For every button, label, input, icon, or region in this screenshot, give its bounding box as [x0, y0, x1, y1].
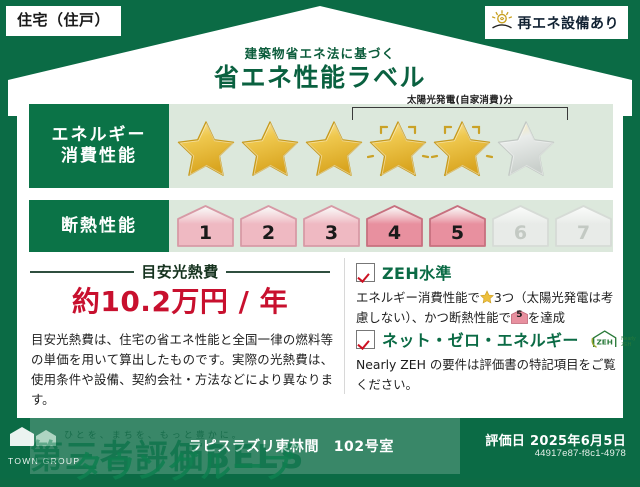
- cost-rule-right: [226, 271, 330, 273]
- cost-note: 目安光熱費は、住宅の省エネ性能と全国一律の燃料等の単価を用いて算出したものです。…: [31, 330, 333, 410]
- sun-renewable-icon: [491, 10, 513, 35]
- star-5-filled-icon: [431, 118, 493, 178]
- insulation-level-number: 6: [490, 204, 551, 248]
- star-2-filled-icon: [239, 118, 301, 178]
- property-address: ラピスラズリ東林間 102号室: [188, 436, 394, 456]
- insulation-row-field: 1 2 3: [169, 200, 613, 252]
- net-zero-text: Nearly ZEH の要件は評価書の特記項目をご覧ください。: [356, 355, 618, 394]
- page-title: 省エネ性能ラベル: [0, 58, 640, 94]
- inline-insulation-badge: 5: [511, 310, 528, 324]
- check-icon: [356, 330, 375, 349]
- insulation-level-6-inactive: 6: [490, 204, 551, 248]
- zeh-text-part1: エネルギー消費性能で: [356, 290, 480, 305]
- svg-text:ZEH: ZEH: [596, 338, 612, 347]
- zeh-standard-header: ZEH水準: [356, 260, 618, 284]
- insulation-level-scale: 1 2 3: [175, 204, 614, 248]
- cost-value: 約10.2万円 / 年: [30, 280, 330, 320]
- cost-heading: 目安光熱費: [30, 261, 330, 282]
- zeh-standard-text: エネルギー消費性能で 3つ（太陽光発電は考慮しない）、かつ断熱性能で 5を達成: [356, 288, 618, 327]
- zeh-standard-title: ZEH水準: [382, 260, 452, 284]
- cost-heading-label: 目安光熱費: [141, 261, 219, 282]
- star-3-filled-icon: [303, 118, 365, 178]
- insulation-level-number: 5: [427, 204, 488, 248]
- star-6-empty-icon: [495, 118, 557, 178]
- energy-performance-row: エネルギー 消費性能 太陽光発電(自家消費)分: [29, 104, 613, 188]
- energy-row-label-line1: エネルギー: [52, 125, 147, 146]
- footer-bar: TOWN GROUP ラピスラズリ東林間 102号室 評価日 2025年6月5日…: [0, 418, 640, 478]
- energy-label-page: 住宅（住戸） 再エネ設備あり 建築物省エネ法に基づく 省エネ性能ラベル: [0, 0, 640, 478]
- inline-star-icon: [480, 290, 494, 304]
- town-group-mark-icon: [6, 424, 66, 454]
- renewable-badge-label: 再エネ設備あり: [518, 13, 620, 33]
- insulation-level-7-inactive: 7: [553, 204, 614, 248]
- insulation-performance-row: 断熱性能 1 2: [29, 200, 613, 252]
- insulation-level-4-active: 4: [364, 204, 425, 248]
- insulation-level-5-active: 5: [427, 204, 488, 248]
- evaluation-id: 44917e87-f8c1-4978: [535, 448, 626, 459]
- insulation-level-1-active: 1: [175, 204, 236, 248]
- inline-badge-value: 5: [511, 310, 528, 324]
- zeh-house-logo-icon: ZEH Nearly ZEH: [590, 328, 640, 350]
- insulation-level-2-active: 2: [238, 204, 299, 248]
- insulation-level-number: 1: [175, 204, 236, 248]
- insulation-level-number: 3: [301, 204, 362, 248]
- evaluation-date-label: 評価日: [485, 434, 525, 449]
- net-zero-energy-block: ネット・ゼロ・エネルギー ZEH Nearly ZEH Nearly ZEH の…: [356, 327, 618, 394]
- insulation-level-number: 7: [553, 204, 614, 248]
- energy-row-label-line2: 消費性能: [61, 146, 137, 167]
- zeh-standard-block: ZEH水準 エネルギー消費性能で 3つ（太陽光発電は考慮しない）、かつ断熱性能で…: [356, 260, 618, 327]
- zeh-logo-sub: Nearly ZEH: [621, 337, 640, 350]
- insulation-row-label: 断熱性能: [29, 200, 169, 252]
- net-zero-header: ネット・ゼロ・エネルギー ZEH Nearly ZEH: [356, 327, 618, 351]
- energy-row-field: 太陽光発電(自家消費)分: [169, 104, 613, 188]
- check-icon: [356, 263, 375, 282]
- zeh-text-part3: を達成: [528, 310, 565, 325]
- net-zero-title: ネット・ゼロ・エネルギー: [382, 327, 579, 351]
- renewable-equipment-badge: 再エネ設備あり: [485, 6, 629, 39]
- cost-rule-left: [30, 271, 134, 273]
- energy-row-label: エネルギー 消費性能: [29, 104, 169, 188]
- insulation-level-number: 4: [364, 204, 425, 248]
- column-divider: [344, 258, 345, 394]
- evaluation-date: 評価日 2025年6月5日: [485, 430, 626, 449]
- star-1-filled-icon: [175, 118, 237, 178]
- insulation-level-number: 2: [238, 204, 299, 248]
- insulation-level-3-active: 3: [301, 204, 362, 248]
- town-group-logo-text: TOWN GROUP: [8, 456, 80, 466]
- evaluation-date-value: 2025年6月5日: [530, 434, 626, 449]
- housing-type-chip: 住宅（住戸）: [6, 6, 121, 36]
- star-4-filled-icon: [367, 118, 429, 178]
- town-group-logo: TOWN GROUP: [6, 424, 102, 472]
- solar-contribution-note: 太陽光発電(自家消費)分: [345, 92, 575, 106]
- energy-star-rating: [175, 118, 557, 178]
